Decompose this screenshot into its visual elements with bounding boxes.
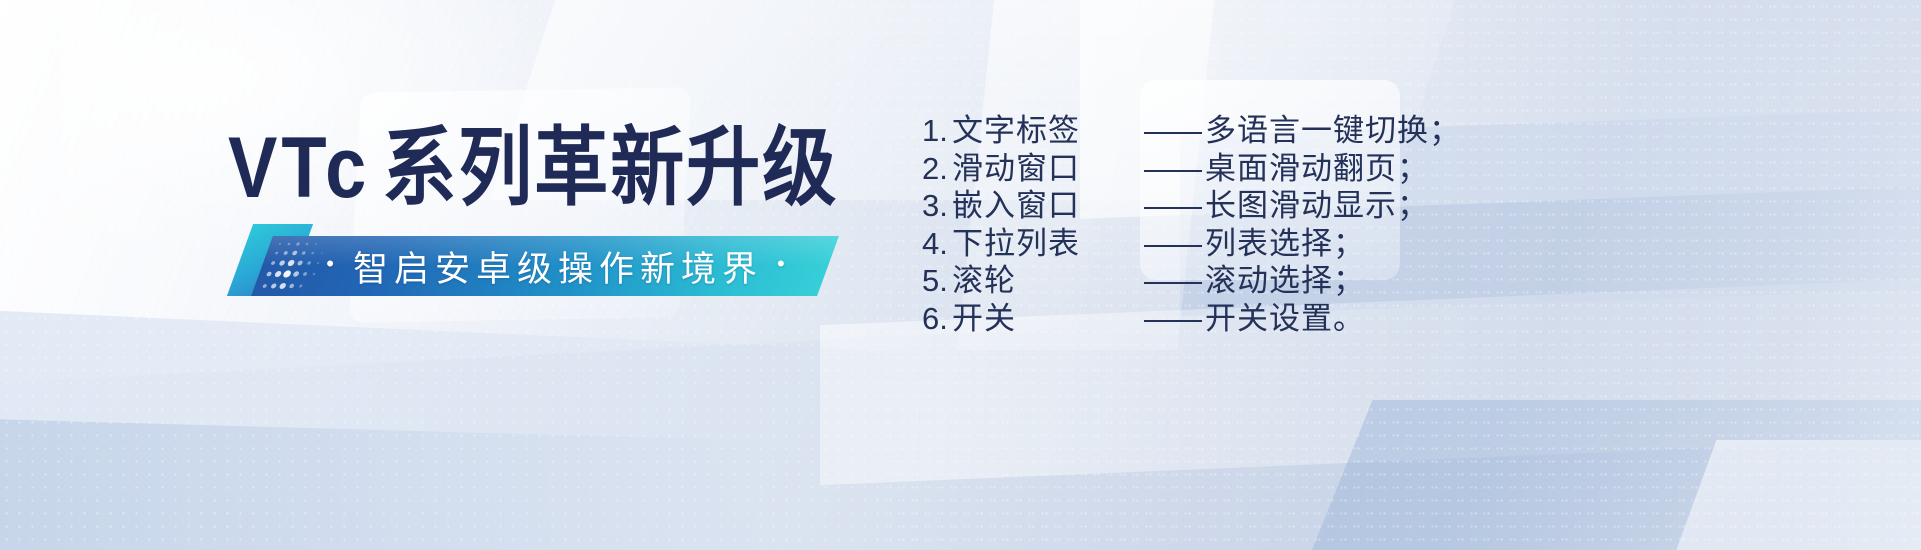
feature-name: 滚轮 bbox=[952, 262, 1137, 300]
bullet-right-icon: • bbox=[777, 253, 790, 275]
feature-dash-icon: —— bbox=[1137, 225, 1205, 263]
subtitle-text: • 智启安卓级操作新境界 • bbox=[288, 236, 828, 296]
title-cjk: 系列革新升级 bbox=[382, 119, 838, 215]
bullet-left-icon: • bbox=[326, 253, 339, 275]
feature-dash-icon: —— bbox=[1137, 150, 1205, 188]
feature-row: 5. 滚轮 —— 滚动选择； bbox=[922, 262, 1461, 300]
feature-name: 嵌入窗口 bbox=[952, 187, 1137, 225]
feature-name: 滑动窗口 bbox=[952, 150, 1137, 188]
feature-name: 开关 bbox=[952, 300, 1137, 338]
feature-row: 1. 文字标签 —— 多语言一键切换； bbox=[922, 112, 1461, 150]
feature-dash-icon: —— bbox=[1137, 262, 1205, 300]
feature-index: 1. bbox=[922, 112, 952, 150]
feature-desc: 长图滑动显示； bbox=[1205, 187, 1429, 225]
feature-row: 6. 开关 —— 开关设置。 bbox=[922, 300, 1461, 338]
subtitle-ribbon: • 智启安卓级操作新境界 • bbox=[240, 222, 840, 298]
feature-desc: 滚动选择； bbox=[1205, 262, 1365, 300]
promo-banner: VTc系列革新升级 bbox=[0, 0, 1921, 550]
feature-row: 2. 滑动窗口 —— 桌面滑动翻页； bbox=[922, 150, 1461, 188]
feature-list: 1. 文字标签 —— 多语言一键切换； 2. 滑动窗口 —— 桌面滑动翻页； 3… bbox=[922, 112, 1461, 337]
background-sheet-f bbox=[0, 307, 920, 550]
feature-index: 5. bbox=[922, 262, 952, 300]
feature-name: 文字标签 bbox=[952, 112, 1137, 150]
feature-desc: 列表选择； bbox=[1205, 225, 1365, 263]
feature-index: 3. bbox=[922, 187, 952, 225]
feature-desc: 多语言一键切换； bbox=[1205, 112, 1461, 150]
feature-desc: 桌面滑动翻页； bbox=[1205, 150, 1429, 188]
feature-row: 3. 嵌入窗口 —— 长图滑动显示； bbox=[922, 187, 1461, 225]
feature-index: 4. bbox=[922, 225, 952, 263]
feature-dash-icon: —— bbox=[1137, 112, 1205, 150]
title-block: VTc系列革新升级 bbox=[228, 118, 838, 204]
subtitle-label: 智启安卓级操作新境界 bbox=[353, 241, 763, 292]
feature-name: 下拉列表 bbox=[952, 225, 1137, 263]
feature-row: 4. 下拉列表 —— 列表选择； bbox=[922, 225, 1461, 263]
background-sheet-g bbox=[1267, 400, 1921, 550]
background-sheet-h bbox=[0, 419, 760, 550]
feature-index: 6. bbox=[922, 300, 952, 338]
page-title: VTc系列革新升级 bbox=[228, 118, 838, 218]
feature-index: 2. bbox=[922, 150, 952, 188]
background-sheet-l bbox=[1644, 440, 1921, 550]
feature-dash-icon: —— bbox=[1137, 300, 1205, 338]
feature-dash-icon: —— bbox=[1137, 187, 1205, 225]
title-latin: VTc bbox=[228, 119, 370, 215]
feature-desc: 开关设置。 bbox=[1205, 300, 1365, 338]
